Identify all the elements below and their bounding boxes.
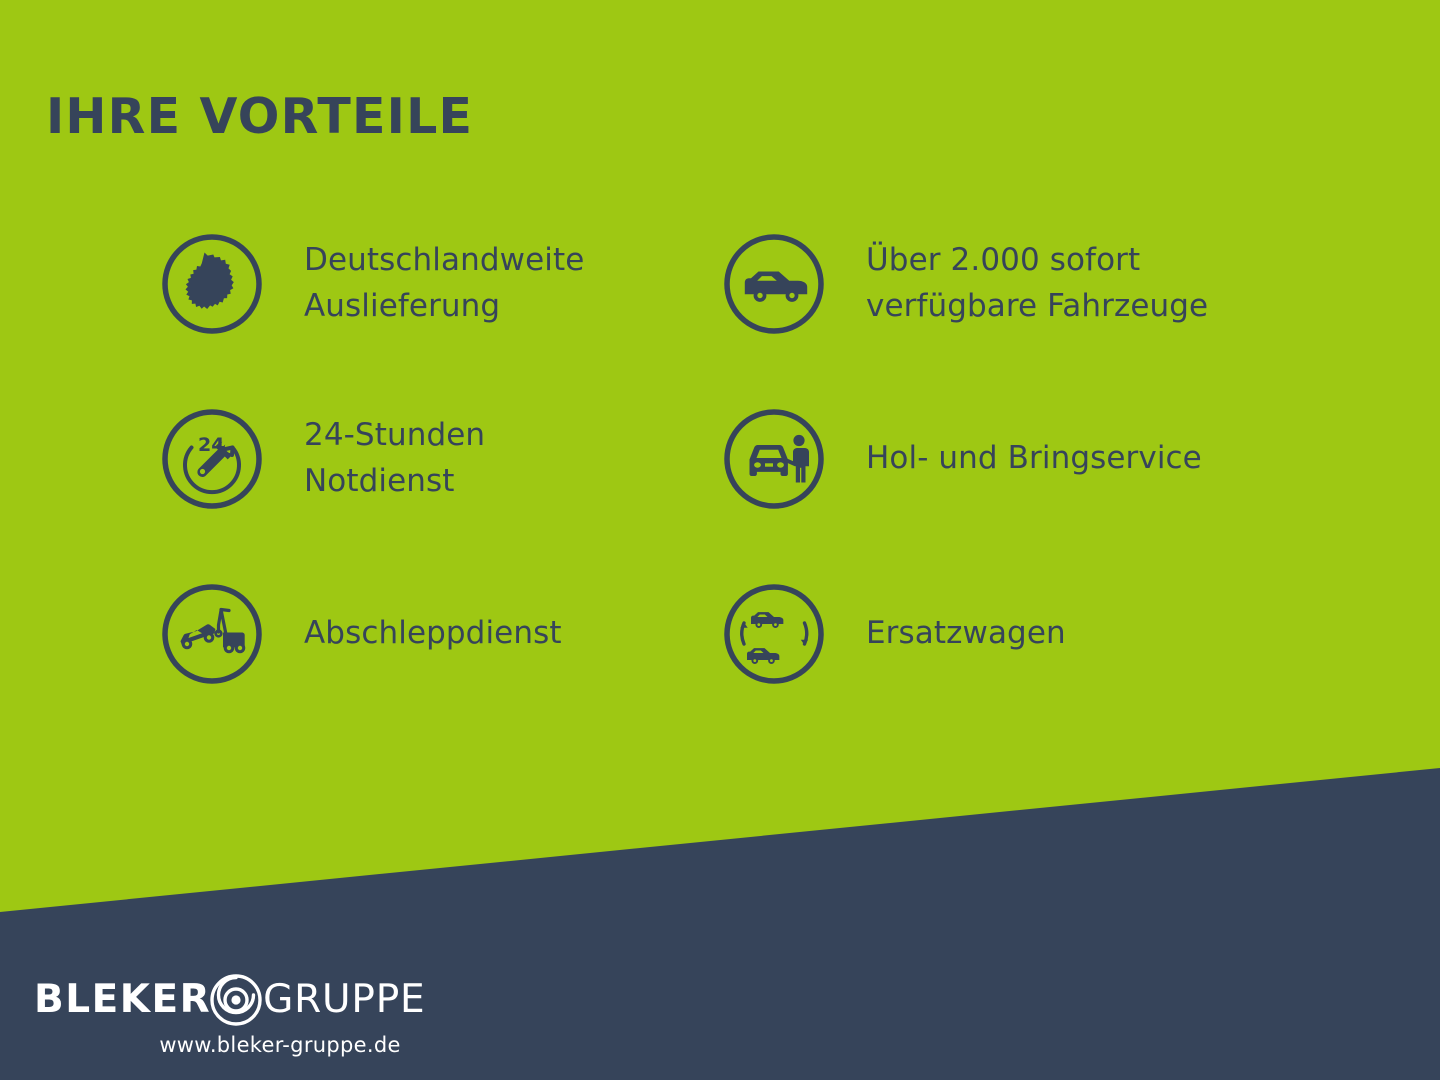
tow-truck-icon bbox=[160, 582, 264, 686]
benefit-item-hol-und-bringservice[interactable]: Hol- und Bringservice bbox=[722, 407, 1202, 511]
car-side-icon bbox=[722, 232, 826, 336]
benefit-label: Ersatzwagen bbox=[866, 611, 1066, 657]
logo-secondary-text: GRUPPE bbox=[263, 980, 425, 1019]
benefit-item-deutschlandweite-auslieferung[interactable]: Deutschlandweite Auslieferung bbox=[160, 232, 584, 336]
benefits-grid: Deutschlandweite Auslieferung Über 2.000… bbox=[0, 0, 1440, 1080]
benefit-label: 24-Stunden Notdienst bbox=[304, 413, 485, 504]
benefit-item-ersatzwagen[interactable]: Ersatzwagen bbox=[722, 582, 1066, 686]
benefit-label: Deutschlandweite Auslieferung bbox=[304, 238, 584, 329]
benefit-label: Über 2.000 sofort verfügbare Fahrzeuge bbox=[866, 238, 1208, 329]
spiral-circles-logo-icon bbox=[207, 970, 265, 1028]
24-hour-wrench-icon: 24 bbox=[160, 407, 264, 511]
benefit-label: Hol- und Bringservice bbox=[866, 436, 1202, 482]
car-with-driver-icon bbox=[722, 407, 826, 511]
car-exchange-icon bbox=[722, 582, 826, 686]
logo-primary-text: BLEKER bbox=[34, 980, 211, 1019]
benefit-label: Abschleppdienst bbox=[304, 611, 562, 657]
germany-map-icon bbox=[160, 232, 264, 336]
logo-url[interactable]: www.bleker-gruppe.de bbox=[100, 1033, 460, 1057]
logo-wordmark: BLEKER GRUPPE bbox=[34, 975, 434, 1023]
footer-logo[interactable]: BLEKER GRUPPE www.bleker-gruppe.de bbox=[34, 975, 434, 1057]
slide-canvas: IHRE VORTEILE Deutschlandweite Ausliefer… bbox=[0, 0, 1440, 1080]
benefit-item-verfuegbare-fahrzeuge[interactable]: Über 2.000 sofort verfügbare Fahrzeuge bbox=[722, 232, 1208, 336]
benefit-item-abschleppdienst[interactable]: Abschleppdienst bbox=[160, 582, 562, 686]
benefit-item-24-stunden-notdienst[interactable]: 24 24-Stunden Notdienst bbox=[160, 407, 485, 511]
